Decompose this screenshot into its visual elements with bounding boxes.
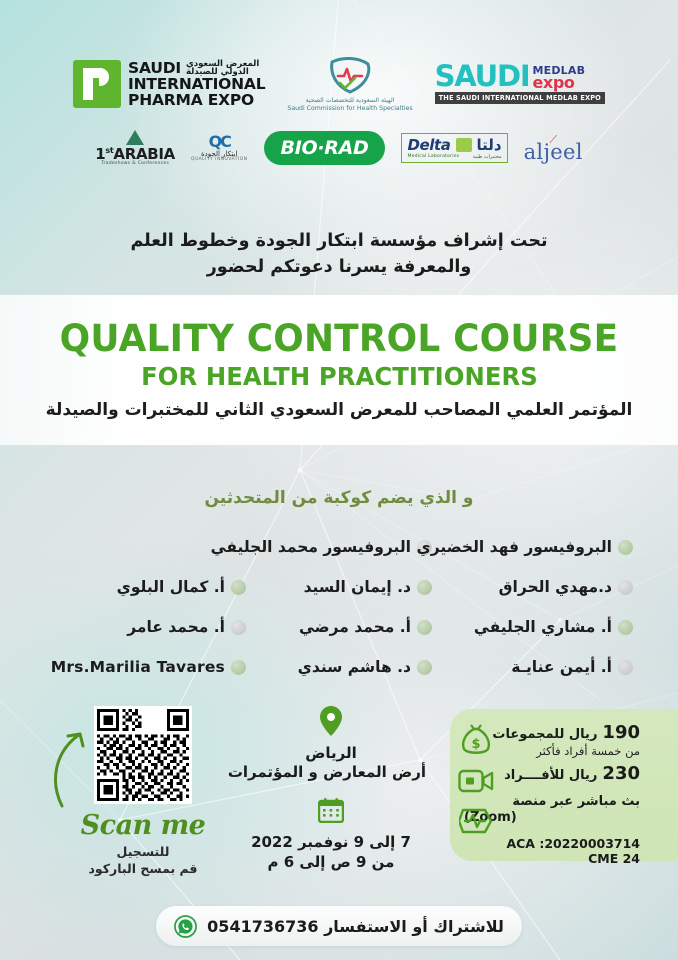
calendar-icon bbox=[318, 797, 344, 823]
group-price-unit: ريال للمجموعات bbox=[492, 727, 597, 742]
speaker-name: البروفيسور فهد الخضيري bbox=[416, 538, 612, 556]
speaker-bullet-icon bbox=[618, 580, 633, 595]
speaker-bullet-icon bbox=[618, 540, 633, 555]
speaker-cell: د.مهدي الحراق bbox=[430, 578, 630, 596]
aca-code: ACA :20220003714 bbox=[464, 836, 640, 852]
individual-price-unit: ريال للأفــــراد bbox=[504, 768, 597, 783]
map-pin-icon bbox=[320, 706, 342, 736]
scan-sub-line2: قم بمسح الباركود bbox=[58, 861, 228, 878]
pricing-card: 190 ريال للمجموعات من خمسة أفراد فأكثر 2… bbox=[450, 709, 678, 861]
health-specialties-shield-icon bbox=[324, 56, 376, 96]
speaker-cell: أ. كمال البلوي bbox=[48, 578, 243, 596]
speaker-name: د. هاشم سندي bbox=[298, 658, 411, 676]
sponsor-logos: SAUDI المعرض السعودي الدولي للصيدلة INTE… bbox=[0, 56, 678, 167]
speaker-name: البروفيسور محمد الجليفي bbox=[211, 538, 411, 556]
speaker-bullet-icon bbox=[618, 660, 633, 675]
scfhs-arabic: الهيئة السعودية للتخصصات الصحية bbox=[306, 97, 395, 104]
page-subtitle: FOR HEALTH PRACTITIONERS bbox=[141, 362, 538, 391]
speaker-cell: أ. أيمن عنايـة bbox=[430, 658, 630, 676]
scan-sub-line1: للتسجيل bbox=[58, 844, 228, 861]
speaker-name: أ. محمد مرضي bbox=[299, 618, 411, 636]
stream-text: بث مباشر عبر منصة bbox=[512, 794, 640, 809]
speaker-name: أ. كمال البلوي bbox=[117, 578, 225, 596]
logo-aljeel: ⟋ aljeel bbox=[524, 134, 583, 163]
speaker-cell: أ. محمد عامر bbox=[48, 618, 243, 636]
logo-row-primary: SAUDI المعرض السعودي الدولي للصيدلة INTE… bbox=[0, 56, 678, 112]
delta-sub-english: Medical Laboratories bbox=[407, 154, 459, 160]
delta-sub-arabic: مختبرات طبية bbox=[473, 154, 502, 160]
logo-quality-innovation: QC ابتكار الجودة QUALITY INNOVATION bbox=[191, 134, 248, 163]
contact-footer[interactable]: للاشتراك أو الاستفسار 0541736736 bbox=[156, 906, 522, 946]
title-band: QUALITY CONTROL COURSE FOR HEALTH PRACTI… bbox=[0, 295, 678, 445]
qci-mark-icon: QC bbox=[209, 134, 230, 151]
qci-english: QUALITY INNOVATION bbox=[191, 158, 248, 163]
speaker-name: أ. مشاري الجليفي bbox=[474, 618, 612, 636]
whatsapp-icon[interactable] bbox=[174, 915, 197, 938]
speaker-row: أ. كمال البلوي د. إيمان السيد د.مهدي الح… bbox=[48, 567, 630, 607]
speakers-heading: و الذي يضم كوكبة من المتحدثين bbox=[0, 488, 678, 508]
scan-me-label: Scan me bbox=[58, 810, 228, 841]
logo-saudi-international-pharma-expo: SAUDI المعرض السعودي الدولي للصيدلة INTE… bbox=[73, 60, 265, 109]
event-date: 7 إلى 9 نوفمبر 2022 bbox=[236, 833, 426, 851]
invitation-line1: تحت إشراف مؤسسة ابتكار الجودة وخطوط العل… bbox=[120, 228, 558, 254]
qr-code-icon[interactable] bbox=[94, 706, 192, 804]
heartbeat-badge-icon bbox=[459, 807, 493, 835]
group-price-amount: 190 bbox=[602, 722, 640, 743]
speaker-row: البروفيسور محمد الجليفي البروفيسور فهد ا… bbox=[48, 527, 630, 567]
speaker-name: د.مهدي الحراق bbox=[499, 578, 612, 596]
speaker-cell: أ. محمد مرضي bbox=[244, 618, 429, 636]
delta-english: Delta bbox=[407, 136, 450, 154]
scan-instructions: للتسجيل قم بمسح الباركود bbox=[58, 844, 228, 878]
poster-root: SAUDI المعرض السعودي الدولي للصيدلة INTE… bbox=[0, 0, 678, 960]
speaker-cell: د. إيمان السيد bbox=[244, 578, 429, 596]
speakers-list: البروفيسور محمد الجليفي البروفيسور فهد ا… bbox=[48, 527, 630, 687]
contact-text: للاشتراك أو الاستفسار 0541736736 bbox=[207, 917, 504, 936]
pharma-expo-line3: PHARMA EXPO bbox=[128, 93, 265, 109]
svg-text:$: $ bbox=[471, 737, 480, 752]
medlab-saudi-word: SAUDI bbox=[435, 64, 530, 89]
delta-flask-icon bbox=[456, 138, 472, 152]
logo-saudi-commission-health-specialties: الهيئة السعودية للتخصصات الصحية Saudi Co… bbox=[287, 56, 412, 112]
delta-arabic: دلتا bbox=[477, 136, 502, 154]
speaker-cell: البروفيسور محمد الجليفي bbox=[244, 538, 429, 556]
speaker-name: أ. أيمن عنايـة bbox=[511, 658, 612, 676]
page-title-arabic: المؤتمر العلمي المصاحب للمعرض السعودي ال… bbox=[46, 400, 633, 420]
venue-and-date-block: الرياض أرض المعارض و المؤتمرات 7 إلى 9 ن… bbox=[236, 706, 426, 871]
speaker-name: أ. محمد عامر bbox=[127, 618, 225, 636]
arabia-subtitle: Tradeshows & Conferences bbox=[101, 162, 169, 167]
speaker-cell: أ. مشاري الجليفي bbox=[430, 618, 630, 636]
arabia-triangle-icon bbox=[126, 130, 144, 145]
event-time: من 9 ص إلى 6 م bbox=[236, 853, 426, 871]
speaker-name: Mrs.Marilia Tavares bbox=[51, 658, 225, 676]
speaker-cell: د. هاشم سندي bbox=[244, 658, 429, 676]
pharma-p-mark-icon bbox=[73, 60, 121, 108]
invitation-text: تحت إشراف مؤسسة ابتكار الجودة وخطوط العل… bbox=[0, 228, 678, 281]
speaker-bullet-icon bbox=[618, 620, 633, 635]
logo-delta-medical-laboratories: Delta دلتا Medical Laboratories مختبرات … bbox=[401, 133, 507, 163]
speaker-cell: البروفيسور فهد الخضيري bbox=[430, 538, 630, 556]
page-title: QUALITY CONTROL COURSE bbox=[60, 320, 619, 358]
venue-city: الرياض bbox=[236, 744, 426, 762]
speaker-cell: Mrs.Marilia Tavares bbox=[48, 658, 243, 676]
invitation-line2: والمعرفة يسرنا دعوتكم لحضور bbox=[120, 254, 558, 280]
logo-saudi-medlab-expo: SAUDI MEDLAB expo THE SAUDI INTERNATIONA… bbox=[435, 64, 605, 105]
speaker-name: د. إيمان السيد bbox=[304, 578, 411, 596]
individual-price-amount: 230 bbox=[602, 763, 640, 784]
speaker-row: أ. محمد عامر أ. محمد مرضي أ. مشاري الجلي… bbox=[48, 607, 630, 647]
accreditation-codes: ACA :20220003714 CME 24 bbox=[464, 836, 640, 867]
money-bag-icon: $ bbox=[458, 723, 494, 755]
video-camera-icon bbox=[458, 768, 494, 794]
medlab-tagline: THE SAUDI INTERNATIONAL MEDLAB EXPO bbox=[435, 92, 605, 104]
pricing-icons: $ bbox=[458, 723, 494, 835]
qr-registration-block[interactable]: Scan me للتسجيل قم بمسح الباركود bbox=[58, 706, 228, 878]
logo-1st-arabia: 1stARABIA Tradeshows & Conferences bbox=[95, 130, 175, 167]
scfhs-english: Saudi Commission for Health Specialties bbox=[287, 105, 412, 112]
curved-arrow-icon bbox=[50, 724, 96, 810]
aljeel-name: aljeel bbox=[524, 142, 583, 163]
logo-row-secondary: 1stARABIA Tradeshows & Conferences QC اب… bbox=[0, 130, 678, 167]
speaker-row: Mrs.Marilia Tavares د. هاشم سندي أ. أيمن… bbox=[48, 647, 630, 687]
medlab-expo-word: expo bbox=[532, 76, 585, 90]
logo-bio-rad: BIO·RAD bbox=[264, 131, 386, 165]
cme-credits: CME 24 bbox=[464, 851, 640, 867]
venue-place: أرض المعارض و المؤتمرات bbox=[236, 763, 426, 781]
